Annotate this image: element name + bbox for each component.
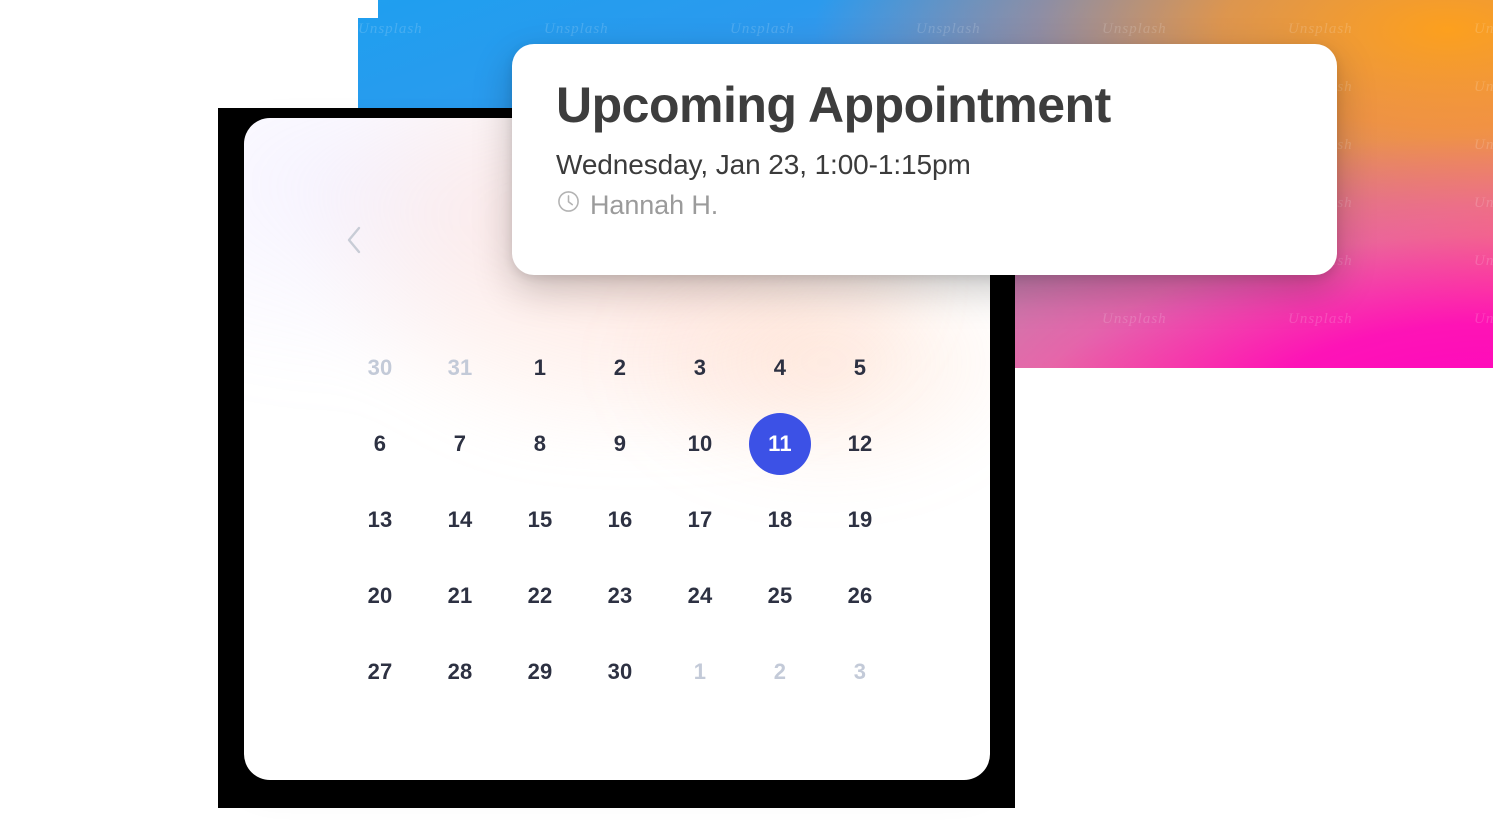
calendar-day-label: 3 [694, 355, 706, 381]
calendar-day-cell[interactable]: 1 [500, 330, 580, 406]
calendar-day-cell[interactable]: 13 [340, 482, 420, 558]
calendar-day-label: 29 [528, 659, 553, 685]
calendar-day-cell[interactable]: 2 [580, 330, 660, 406]
calendar-day-cell[interactable]: 11 [740, 406, 820, 482]
calendar-day-cell[interactable]: 27 [340, 634, 420, 710]
calendar-day-label: 31 [448, 355, 473, 381]
calendar-day-grid: 3031123456789101112131415161718192021222… [340, 330, 900, 710]
calendar-day-label: 2 [614, 355, 626, 381]
calendar-day-cell[interactable]: 6 [340, 406, 420, 482]
calendar-day-label: 8 [534, 431, 546, 457]
calendar-day-cell[interactable]: 21 [420, 558, 500, 634]
calendar-day-label: 14 [448, 507, 473, 533]
calendar-day-cell[interactable]: 31 [420, 330, 500, 406]
appointment-title: Upcoming Appointment [556, 76, 1293, 135]
calendar-day-label: 1 [694, 659, 706, 685]
calendar-day-label: 19 [848, 507, 873, 533]
calendar-day-cell[interactable]: 17 [660, 482, 740, 558]
previous-month-button[interactable] [332, 218, 376, 262]
calendar-day-cell[interactable]: 9 [580, 406, 660, 482]
calendar-day-label: 16 [608, 507, 633, 533]
gradient-notch [358, 0, 378, 18]
calendar-day-label: 18 [768, 507, 793, 533]
calendar-day-cell[interactable]: 10 [660, 406, 740, 482]
calendar-day-cell[interactable]: 22 [500, 558, 580, 634]
calendar-day-label: 11 [768, 431, 792, 457]
calendar-day-cell[interactable]: 14 [420, 482, 500, 558]
calendar-day-label: 2 [774, 659, 786, 685]
calendar-day-label: 10 [688, 431, 713, 457]
calendar-day-cell[interactable]: 16 [580, 482, 660, 558]
clock-icon [556, 189, 581, 221]
calendar-day-label: 20 [368, 583, 393, 609]
calendar-day-label: 24 [688, 583, 713, 609]
calendar-day-label: 6 [374, 431, 386, 457]
calendar-day-cell[interactable]: 8 [500, 406, 580, 482]
calendar-day-label: 7 [454, 431, 466, 457]
calendar-day-label: 23 [608, 583, 633, 609]
calendar-day-label: 4 [774, 355, 786, 381]
calendar-day-cell[interactable]: 5 [820, 330, 900, 406]
calendar-day-cell[interactable]: 3 [660, 330, 740, 406]
calendar-day-label: 1 [534, 355, 546, 381]
upcoming-appointment-card: Upcoming Appointment Wednesday, Jan 23, … [512, 44, 1337, 275]
calendar-day-label: 12 [848, 431, 873, 457]
calendar-day-cell[interactable]: 24 [660, 558, 740, 634]
calendar-day-label: 25 [768, 583, 793, 609]
calendar-day-label: 28 [448, 659, 473, 685]
calendar-day-cell[interactable]: 18 [740, 482, 820, 558]
calendar-day-label: 3 [854, 659, 866, 685]
appointment-host-row: Hannah H. [556, 189, 1293, 221]
calendar-day-label: 30 [368, 355, 393, 381]
calendar-day-label: 22 [528, 583, 553, 609]
calendar-day-cell[interactable]: 20 [340, 558, 420, 634]
calendar-day-cell[interactable]: 26 [820, 558, 900, 634]
calendar-day-cell[interactable]: 28 [420, 634, 500, 710]
calendar-day-cell[interactable]: 30 [340, 330, 420, 406]
calendar-day-cell[interactable]: 7 [420, 406, 500, 482]
calendar-day-label: 26 [848, 583, 873, 609]
calendar-day-cell[interactable]: 29 [500, 634, 580, 710]
calendar-day-cell[interactable]: 4 [740, 330, 820, 406]
calendar-day-label: 21 [448, 583, 473, 609]
appointment-host-name: Hannah H. [590, 190, 718, 221]
calendar-day-label: 17 [688, 507, 713, 533]
calendar-day-cell[interactable]: 15 [500, 482, 580, 558]
appointment-datetime: Wednesday, Jan 23, 1:00-1:15pm [556, 149, 1293, 181]
calendar-day-label: 27 [368, 659, 393, 685]
calendar-day-label: 5 [854, 355, 866, 381]
calendar-day-label: 30 [608, 659, 633, 685]
calendar-day-cell[interactable]: 25 [740, 558, 820, 634]
calendar-day-cell[interactable]: 12 [820, 406, 900, 482]
calendar-day-cell[interactable]: 3 [820, 634, 900, 710]
screenshot-stage: UnsplashUnsplashUnsplashUnsplashUnsplash… [0, 0, 1493, 840]
calendar-day-cell[interactable]: 1 [660, 634, 740, 710]
calendar-day-cell[interactable]: 30 [580, 634, 660, 710]
calendar-day-cell[interactable]: 23 [580, 558, 660, 634]
calendar-day-label: 15 [528, 507, 553, 533]
calendar-day-label: 13 [368, 507, 393, 533]
chevron-left-icon [344, 224, 364, 256]
calendar-day-cell[interactable]: 2 [740, 634, 820, 710]
calendar-day-cell[interactable]: 19 [820, 482, 900, 558]
calendar-day-label: 9 [614, 431, 626, 457]
